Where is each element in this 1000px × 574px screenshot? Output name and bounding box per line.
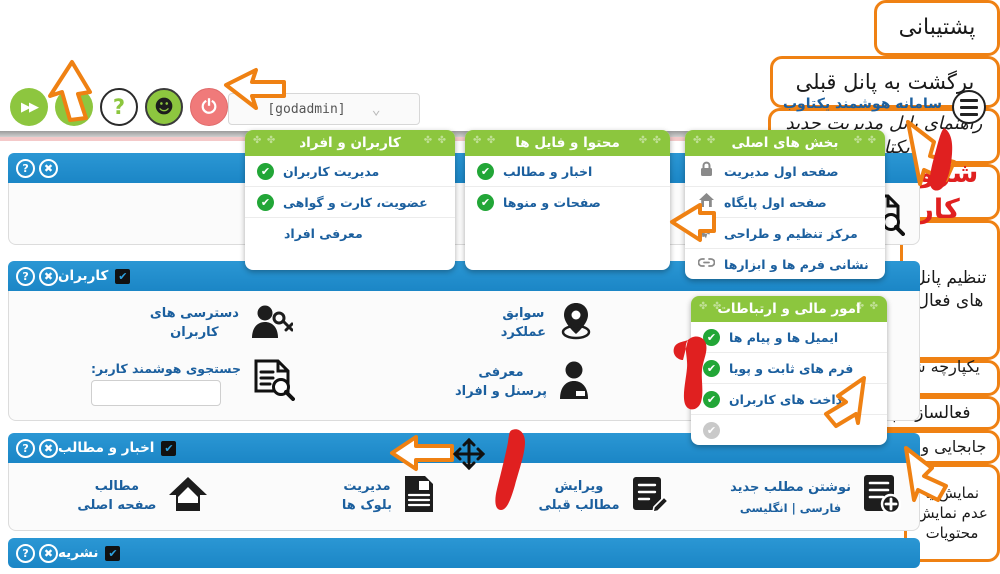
support-icon[interactable]: ☻ — [145, 88, 183, 126]
check-icon[interactable]: ✔ — [257, 194, 274, 211]
tile-personnel-intro[interactable]: معرفیپرسنل و افراد — [313, 353, 616, 413]
chevron-down-icon: ⌄ — [372, 100, 381, 118]
menu-item-user-management[interactable]: مدیریت کاربران ✔ — [245, 156, 455, 187]
check-icon[interactable]: ✔ — [257, 163, 274, 180]
power-icon[interactable]: ⏻ — [190, 88, 228, 126]
menu-title: امور مالی و ارتباطات — [691, 296, 887, 322]
user-search-label: جستجوی هوشمند کاربر: — [91, 361, 241, 376]
location-pin-icon — [556, 301, 596, 347]
menu-item-membership-card[interactable]: عضویت، کارت و گواهی ✔ — [245, 187, 455, 218]
home-icon — [697, 192, 715, 212]
panel-title: کاربران — [58, 268, 108, 284]
menu-item-label: ایمیل ها و پیام ها — [729, 330, 838, 345]
menu-item-label: اخبار و مطالب — [503, 164, 592, 179]
tile-label: معرفیپرسنل و افراد — [455, 364, 547, 402]
menu-item-label: مرکز تنظیم و طراحی — [724, 226, 858, 241]
tile-label: دسترسی هایکاربران — [150, 305, 239, 343]
menu-item-news-articles[interactable]: اخبار و مطالب ✔ — [465, 156, 670, 187]
menu-item-label: عضویت، کارت و گواهی — [283, 195, 428, 210]
home-icon[interactable]: ⌂ — [55, 88, 93, 126]
user-icon — [557, 360, 591, 406]
tile-label: ویرایشمطالب قبلی — [538, 478, 619, 516]
user-label: [godadmin] — [267, 102, 345, 117]
lock-icon — [697, 161, 715, 181]
panel-title-group: ✔ نشریه — [58, 545, 120, 561]
toolbar-icons: ⏻ ☻ ? ⌂ ▶▶ — [10, 88, 228, 126]
forward-icon[interactable]: ▶▶ — [10, 88, 48, 126]
panel-title: اخبار و مطالب — [58, 440, 154, 456]
tile-user-smart-search[interactable]: جستجوی هوشمند کاربر: — [10, 353, 313, 413]
hamburger-menu-icon[interactable] — [952, 90, 986, 124]
menu-title: کاربران و افراد — [245, 130, 455, 156]
power-glyph: ⏻ — [201, 96, 216, 118]
tile-sublabel[interactable]: فارسی | انگلیسی — [740, 501, 841, 515]
tile-text-group: نوشتن مطلب جدید فارسی | انگلیسی — [730, 479, 851, 515]
hamburger-line — [960, 113, 978, 116]
close-icon[interactable]: ✖ — [39, 544, 58, 563]
check-icon-disabled[interactable]: ✔ — [703, 422, 720, 439]
menu-title: محتوا و فایل ها — [465, 130, 670, 156]
menu-item-user-payments[interactable]: پرداخت های کاربران ✔ — [691, 384, 887, 415]
support-glyph: ☻ — [154, 96, 174, 118]
help-icon[interactable]: ? — [16, 159, 35, 178]
edit-article-icon — [630, 474, 670, 520]
callout-support: پشتیبانی — [874, 0, 1000, 56]
user-search-input[interactable] — [91, 380, 221, 406]
menu-item-label: مدیریت کاربران — [283, 164, 379, 179]
close-icon[interactable]: ✖ — [39, 267, 58, 286]
tile-user-access[interactable]: دسترسی هایکاربران — [10, 295, 313, 353]
check-icon[interactable]: ✔ — [477, 194, 494, 211]
tile-manage-blocks[interactable]: مدیریتبلوک ها — [237, 463, 465, 527]
menu-item-emails-messages[interactable]: ایمیل ها و پیام ها ✔ — [691, 322, 887, 353]
panel-body: نوشتن مطلب جدید فارسی | انگلیسی — [8, 463, 920, 531]
menu-item-label: فرم های ثابت و پویا — [729, 361, 853, 376]
menu-item-admin-home[interactable]: صفحه اول مدیریت — [685, 156, 885, 187]
panel-title: نشریه — [58, 545, 98, 561]
callout-active-panels-text: تنظیم پانل های فعال — [911, 267, 989, 313]
menu-item-label: صفحه اول پایگاه — [724, 195, 827, 210]
tile-home-content[interactable]: مطالبصفحه اصلی — [9, 463, 237, 527]
panel-title-group: ✔ کاربران — [58, 268, 130, 284]
tile-list: نوشتن مطلب جدید فارسی | انگلیسی — [9, 463, 919, 527]
check-icon[interactable]: ✔ — [703, 329, 720, 346]
site-name: سامانه هوشمند یکتاوب — [783, 96, 942, 112]
menu-card-users-people: کاربران و افراد مدیریت کاربران ✔ عضویت، … — [245, 130, 455, 270]
menu-item-label: صفحه اول مدیریت — [724, 164, 839, 179]
panel-checkbox[interactable]: ✔ — [161, 441, 176, 456]
hamburger-line — [960, 106, 978, 109]
tile-label: سوابقعملکرد — [501, 305, 546, 343]
check-icon[interactable]: ✔ — [703, 360, 720, 377]
tile-label: مدیریتبلوک ها — [342, 478, 392, 516]
callout-show-hide-text: نمایش یا عدم نمایش محتویات — [915, 483, 989, 544]
close-icon[interactable]: ✖ — [39, 439, 58, 458]
help-icon[interactable]: ? — [16, 544, 35, 563]
tile-label: مطالبصفحه اصلی — [77, 478, 156, 516]
menu-card-finance-comms: امور مالی و ارتباطات ایمیل ها و پیام ها … — [691, 296, 887, 445]
home-glyph: ⌂ — [67, 95, 81, 120]
tile-label: نوشتن مطلب جدید — [730, 479, 851, 498]
menu-item-label: نشانی فرم ها و ابزارها — [724, 257, 869, 272]
menu-card-main-sections: بخش های اصلی صفحه اول مدیریت صفحه اول پا… — [685, 130, 885, 279]
tile-activity-log[interactable]: سوابقعملکرد — [313, 295, 616, 353]
menu-item-forms[interactable]: فرم های ثابت و پویا ✔ — [691, 353, 887, 384]
check-icon[interactable]: ✔ — [703, 391, 720, 408]
menu-item-disabled[interactable]: ✔ — [691, 415, 887, 445]
help-glyph: ? — [113, 95, 125, 119]
menu-title: بخش های اصلی — [685, 130, 885, 156]
blocks-icon — [402, 474, 436, 520]
screenshot-root: ⏻ ☻ ? ⌂ ▶▶ ⌄ [godadmin] سامانه هوشمند یک… — [0, 0, 1000, 574]
menu-card-content-files: محتوا و فایل ها اخبار و مطالب ✔ صفحات و … — [465, 130, 670, 270]
menu-item-site-home[interactable]: صفحه اول پایگاه — [685, 187, 885, 218]
link-icon — [697, 255, 715, 273]
user-select[interactable]: ⌄ [godadmin] — [228, 93, 420, 125]
tile-new-article[interactable]: نوشتن مطلب جدید فارسی | انگلیسی — [692, 463, 920, 527]
panel-checkbox[interactable]: ✔ — [105, 546, 120, 561]
panel-news: ✔ اخبار و مطالب ✖ ? — [8, 433, 920, 531]
home-content-icon — [167, 475, 209, 519]
help-icon[interactable]: ? — [100, 88, 138, 126]
menu-item-label: صفحات و منوها — [503, 195, 601, 210]
panel-journal: ✔ نشریه ✖ ? — [8, 538, 920, 568]
menu-item-pages-menus[interactable]: صفحات و منوها ✔ — [465, 187, 670, 217]
menu-item-forms-tools[interactable]: نشانی فرم ها و ابزارها — [685, 249, 885, 279]
forward-glyph: ▶▶ — [21, 100, 37, 115]
panel-checkbox[interactable]: ✔ — [115, 269, 130, 284]
new-article-icon — [861, 473, 901, 521]
menu-item-people-intro[interactable]: معرفی افراد — [245, 218, 455, 248]
panel-header[interactable]: ✔ نشریه ✖ ? — [8, 538, 920, 568]
tile-edit-article[interactable]: ویرایشمطالب قبلی — [464, 463, 692, 527]
help-icon[interactable]: ? — [16, 267, 35, 286]
user-search-field-group: جستجوی هوشمند کاربر: — [91, 361, 241, 406]
menu-item-design-center[interactable]: مرکز تنظیم و طراحی — [685, 218, 885, 249]
help-icon[interactable]: ? — [16, 439, 35, 458]
check-icon[interactable]: ✔ — [477, 163, 494, 180]
user-key-icon — [249, 302, 293, 346]
panel-title-group: ✔ اخبار و مطالب — [58, 440, 176, 456]
hamburger-line — [960, 99, 978, 102]
menu-item-label: معرفی افراد — [284, 226, 363, 241]
menu-item-label: پرداخت های کاربران — [729, 392, 855, 407]
close-icon[interactable]: ✖ — [39, 159, 58, 178]
gear-icon — [697, 223, 715, 243]
document-search-icon — [251, 359, 295, 407]
